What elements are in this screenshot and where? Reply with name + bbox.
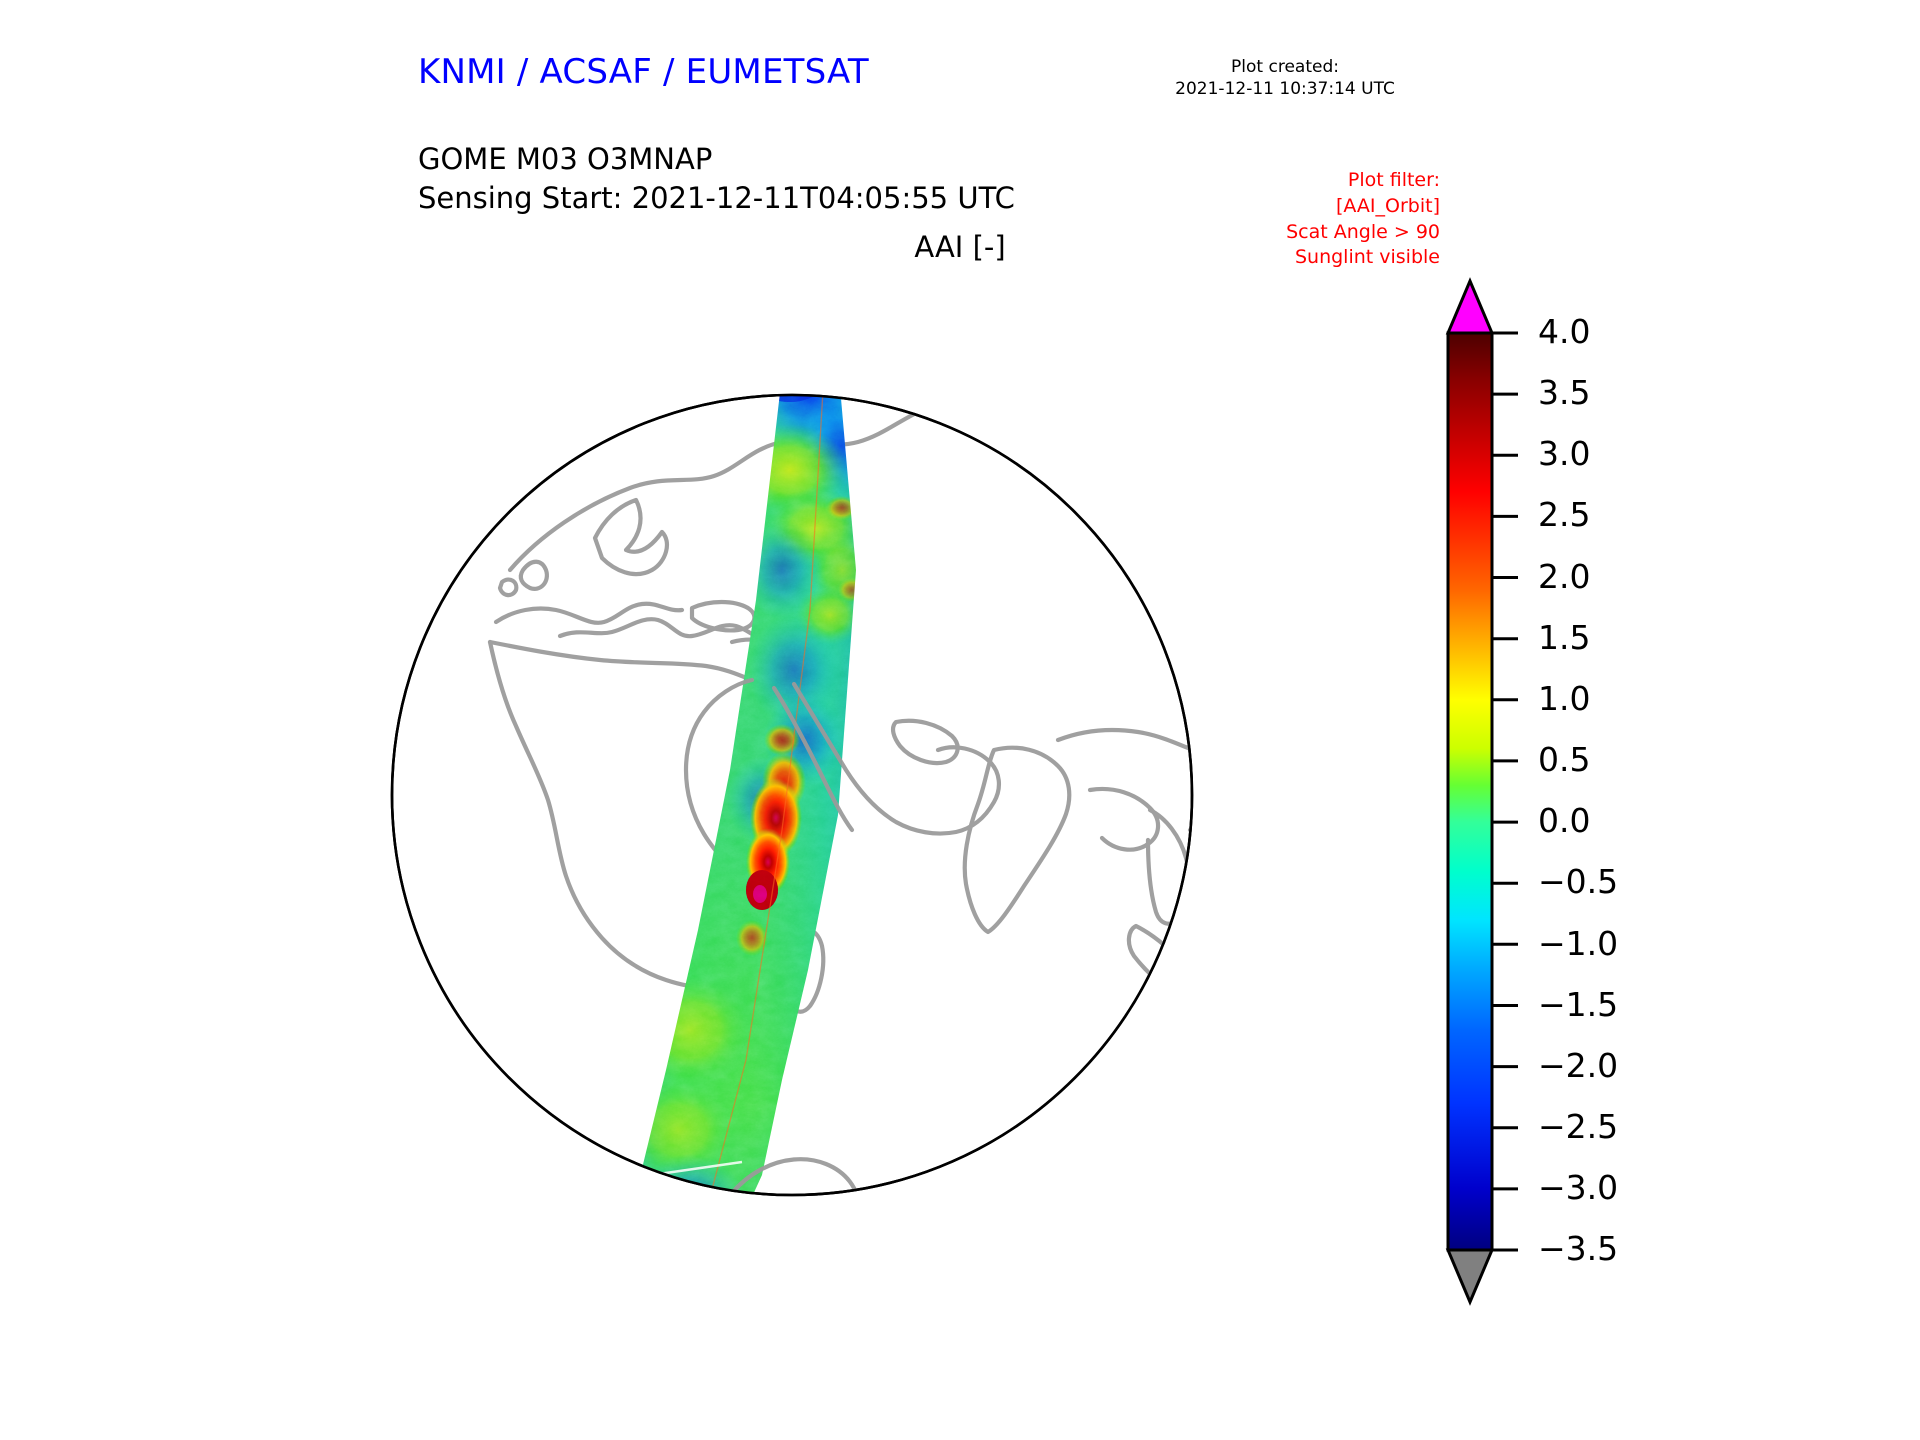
plot-filter-product: [AAI_Orbit]	[1180, 194, 1440, 220]
colorbar-tick-label: 0.0	[1538, 804, 1590, 837]
colorbar-tick-label: 0.5	[1538, 743, 1590, 776]
sensing-start: Sensing Start: 2021-12-11T04:05:55 UTC	[418, 179, 1015, 218]
colorbar-ticks	[1492, 333, 1518, 1250]
colorbar-tick-label: −1.5	[1538, 988, 1618, 1021]
colorbar-gradient	[1448, 333, 1492, 1250]
plot-created-block: Plot created: 2021-12-11 10:37:14 UTC	[1120, 56, 1450, 101]
plot-filter-block: Plot filter: [AAI_Orbit] Scat Angle > 90…	[1180, 168, 1440, 271]
colorbar-tick-label: 2.5	[1538, 498, 1590, 531]
colorbar-tick-label: 1.0	[1538, 682, 1590, 715]
colorbar-tick-label: −2.5	[1538, 1110, 1618, 1143]
colorbar-over-range-arrow	[1448, 281, 1492, 333]
colorbar-tick-label: −2.0	[1538, 1049, 1618, 1082]
plot-filter-label: Plot filter:	[1180, 168, 1440, 194]
colorbar-panel[interactable]: 4.0 3.5 3.0 2.5 2.0 1.5 1.0 0.5 0.0 −0.5…	[1430, 275, 1850, 1315]
colorbar-tick-label: −3.0	[1538, 1171, 1618, 1204]
quantity-title: AAI [-]	[760, 230, 1160, 264]
orthographic-globe	[390, 270, 1410, 1340]
plot-created-label: Plot created:	[1120, 56, 1450, 78]
plot-filter-sunglint: Sunglint visible	[1180, 245, 1440, 271]
colorbar-tick-label: −0.5	[1538, 865, 1618, 898]
colorbar-tick-label: 3.0	[1538, 437, 1590, 470]
map-panel[interactable]	[390, 270, 1410, 1340]
colorbar-tick-label-list: 4.0 3.5 3.0 2.5 2.0 1.5 1.0 0.5 0.0 −0.5…	[1538, 275, 1838, 1315]
dataset-info-block: GOME M03 O3MNAP Sensing Start: 2021-12-1…	[418, 140, 1015, 217]
colorbar-tick-label: −3.5	[1538, 1232, 1618, 1265]
colorbar-tick-label: 2.0	[1538, 560, 1590, 593]
colorbar-under-range-arrow	[1448, 1250, 1492, 1302]
colorbar-tick-label: 3.5	[1538, 376, 1590, 409]
page-title-organisation: KNMI / ACSAF / EUMETSAT	[418, 52, 869, 92]
plot-filter-scat-angle: Scat Angle > 90	[1180, 220, 1440, 246]
colorbar-tick-label: −1.0	[1538, 927, 1618, 960]
colorbar-tick-label: 1.5	[1538, 621, 1590, 654]
colorbar-tick-label: 4.0	[1538, 315, 1590, 348]
plot-created-timestamp: 2021-12-11 10:37:14 UTC	[1120, 78, 1450, 100]
dataset-name: GOME M03 O3MNAP	[418, 140, 1015, 179]
